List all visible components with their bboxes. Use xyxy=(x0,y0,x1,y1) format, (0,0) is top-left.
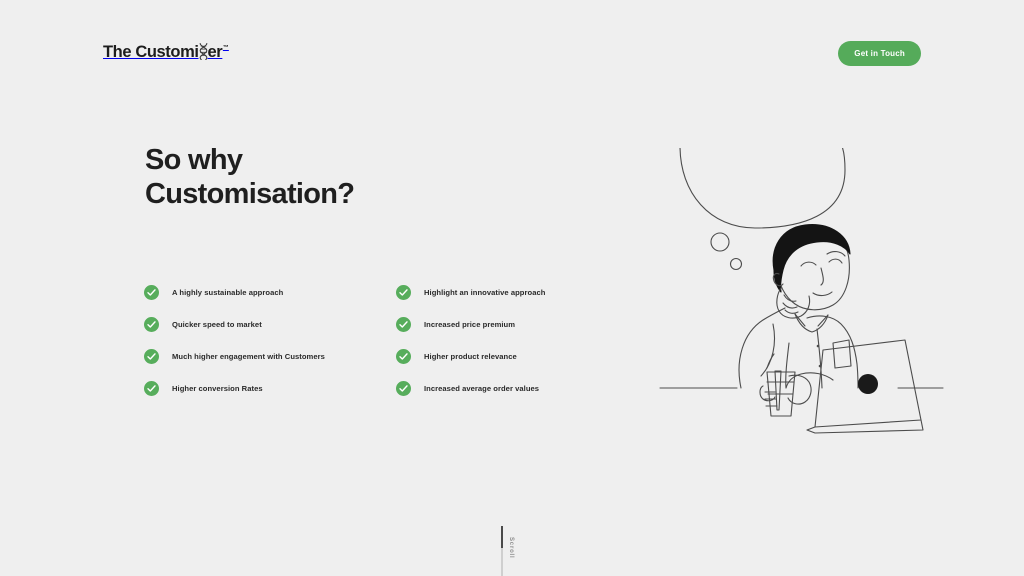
eye-right xyxy=(829,259,842,263)
list-item-label: Quicker speed to market xyxy=(172,320,262,329)
page-title-line-2: Customisation? xyxy=(145,177,565,211)
thought-bubble-dot-small xyxy=(731,259,742,270)
body-left-arm xyxy=(739,308,785,388)
body-sleeve-fold xyxy=(786,343,789,388)
coffee-steam-placeholder xyxy=(775,371,781,410)
list-item-label: Highlight an innovative approach xyxy=(424,288,545,297)
check-circle-icon xyxy=(144,349,159,364)
shirt-button-1 xyxy=(817,345,820,348)
body-arm-crease xyxy=(761,324,775,376)
mouth xyxy=(813,292,832,296)
person-thinking-at-laptop-illustration xyxy=(655,148,945,438)
dna-helix-icon xyxy=(199,43,208,60)
check-circle-icon xyxy=(396,381,411,396)
scroll-indicator[interactable]: Scroll xyxy=(497,520,537,576)
page-title: So why Customisation? xyxy=(145,143,565,211)
benefits-list: A highly sustainable approach Quicker sp… xyxy=(144,276,614,404)
list-item: Quicker speed to market xyxy=(144,308,396,340)
list-item-label: A highly sustainable approach xyxy=(172,288,283,297)
hair xyxy=(773,225,850,292)
finger-3 xyxy=(785,310,798,313)
list-item: Increased average order values xyxy=(396,372,614,404)
brand-logo[interactable]: The Customi er ™ xyxy=(103,44,229,61)
list-item: Increased price premium xyxy=(396,308,614,340)
page-title-line-1: So why xyxy=(145,143,565,177)
thought-bubble xyxy=(680,148,845,228)
trademark-symbol: ™ xyxy=(223,45,229,51)
check-circle-icon xyxy=(396,349,411,364)
list-item-label: Increased average order values xyxy=(424,384,539,393)
eyebrow-right xyxy=(827,252,845,256)
list-item: Much higher engagement with Customers xyxy=(144,340,396,372)
check-circle-icon xyxy=(144,317,159,332)
scroll-thumb[interactable] xyxy=(501,526,503,548)
laptop-logo-icon xyxy=(858,374,878,394)
list-item: Higher conversion Rates xyxy=(144,372,396,404)
scroll-label: Scroll xyxy=(508,537,514,558)
get-in-touch-button[interactable]: Get in Touch xyxy=(838,41,921,66)
site-header: The Customi er ™ Get in Touch xyxy=(0,0,1024,100)
thought-bubble-dot-large xyxy=(711,233,729,251)
list-item-label: Higher conversion Rates xyxy=(172,384,263,393)
brand-logo-text-before: The Customi xyxy=(103,44,199,61)
finger-1 xyxy=(784,295,796,301)
list-item: Higher product relevance xyxy=(396,340,614,372)
nose xyxy=(821,268,823,285)
check-circle-icon xyxy=(396,285,411,300)
check-circle-icon xyxy=(144,285,159,300)
check-circle-icon xyxy=(144,381,159,396)
check-circle-icon xyxy=(396,317,411,332)
benefits-column-right: Highlight an innovative approach Increas… xyxy=(396,276,614,404)
eye-left xyxy=(801,262,816,266)
benefits-column-left: A highly sustainable approach Quicker sp… xyxy=(144,276,396,404)
list-item: Highlight an innovative approach xyxy=(396,276,614,308)
brand-logo-text-after: er xyxy=(208,44,223,61)
list-item-label: Much higher engagement with Customers xyxy=(172,352,325,361)
list-item-label: Increased price premium xyxy=(424,320,515,329)
list-item-label: Higher product relevance xyxy=(424,352,517,361)
list-item: A highly sustainable approach xyxy=(144,276,396,308)
shirt-pocket xyxy=(833,340,851,368)
